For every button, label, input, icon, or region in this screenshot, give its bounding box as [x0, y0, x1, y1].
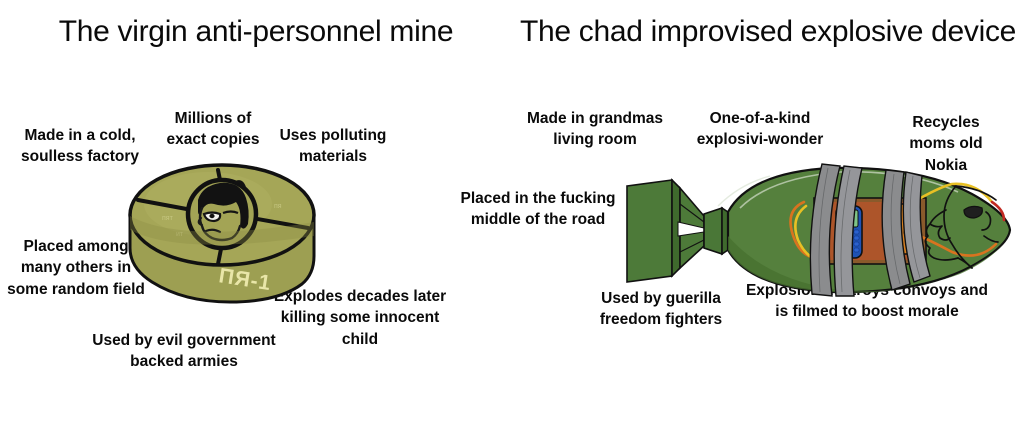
- svg-text:пя: пя: [274, 203, 282, 210]
- ied-illustration: [600, 158, 1024, 303]
- chad-title: The chad improvised explosive device: [512, 12, 1024, 52]
- label-millions-of-exact-copies: Millions of exact copies: [158, 108, 268, 151]
- bomb-tail-collar: [704, 208, 722, 254]
- label-used-by-evil-government: Used by evil government backed armies: [78, 330, 290, 373]
- label-one-of-a-kind-explosivi-wonder: One-of-a-kind explosivi-wonder: [686, 108, 834, 151]
- virgin-title: The virgin anti-personnel mine: [0, 12, 512, 52]
- bomb-tail-fins: [627, 180, 704, 282]
- meme-image: The virgin anti-personnel mine Made in a…: [0, 0, 1024, 433]
- label-placed-in-middle-of-road: Placed in the fucking middle of the road: [456, 188, 620, 231]
- label-made-in-grandmas-living-room: Made in grandmas living room: [514, 108, 676, 151]
- svg-text:пят: пят: [162, 215, 174, 222]
- ied-svg: [600, 158, 1024, 303]
- anti-personnel-mine-illustration: пят ит пя ПЯ-1: [122, 152, 322, 304]
- chad-eye: [964, 206, 982, 218]
- mine-svg: пят ит пя ПЯ-1: [122, 152, 322, 304]
- virgin-eye: [209, 214, 214, 218]
- tail-fin-outer-left: [627, 180, 672, 282]
